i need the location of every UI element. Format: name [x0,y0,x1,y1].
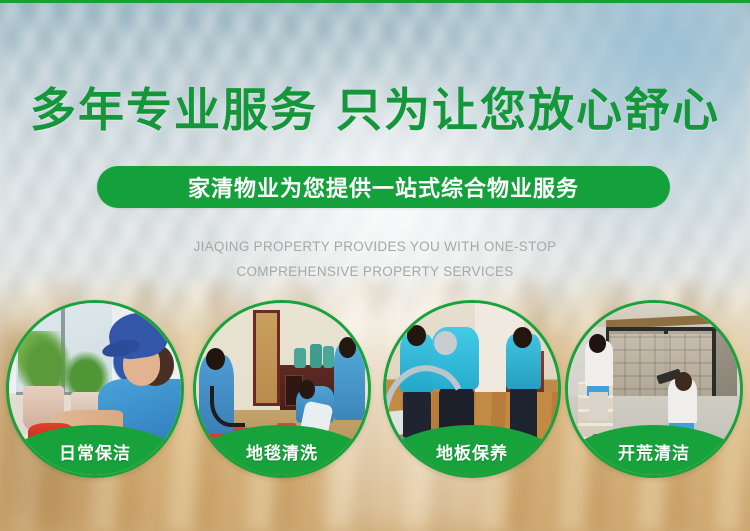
service-label-text: 开荒清洁 [618,439,690,464]
service-circle-daily-cleaning[interactable]: 日常保洁 [6,300,184,478]
promo-banner: 多年专业服务 只为让您放心舒心 家清物业为您提供一站式综合物业服务 JIAQIN… [0,0,750,531]
service-circle-carpet-cleaning[interactable]: 地毯清洗 [193,300,371,478]
service-label-text: 日常保洁 [59,439,131,464]
service-circle-post-construction-cleaning[interactable]: 开荒清洁 [565,300,743,478]
service-circle-list: 日常保洁 地毯清洗 [0,0,750,531]
service-label-text: 地毯清洗 [246,439,318,464]
top-accent-rule [0,0,750,3]
service-circle-floor-maintenance[interactable]: 地板保养 [383,300,561,478]
service-label-text: 地板保养 [436,439,508,464]
